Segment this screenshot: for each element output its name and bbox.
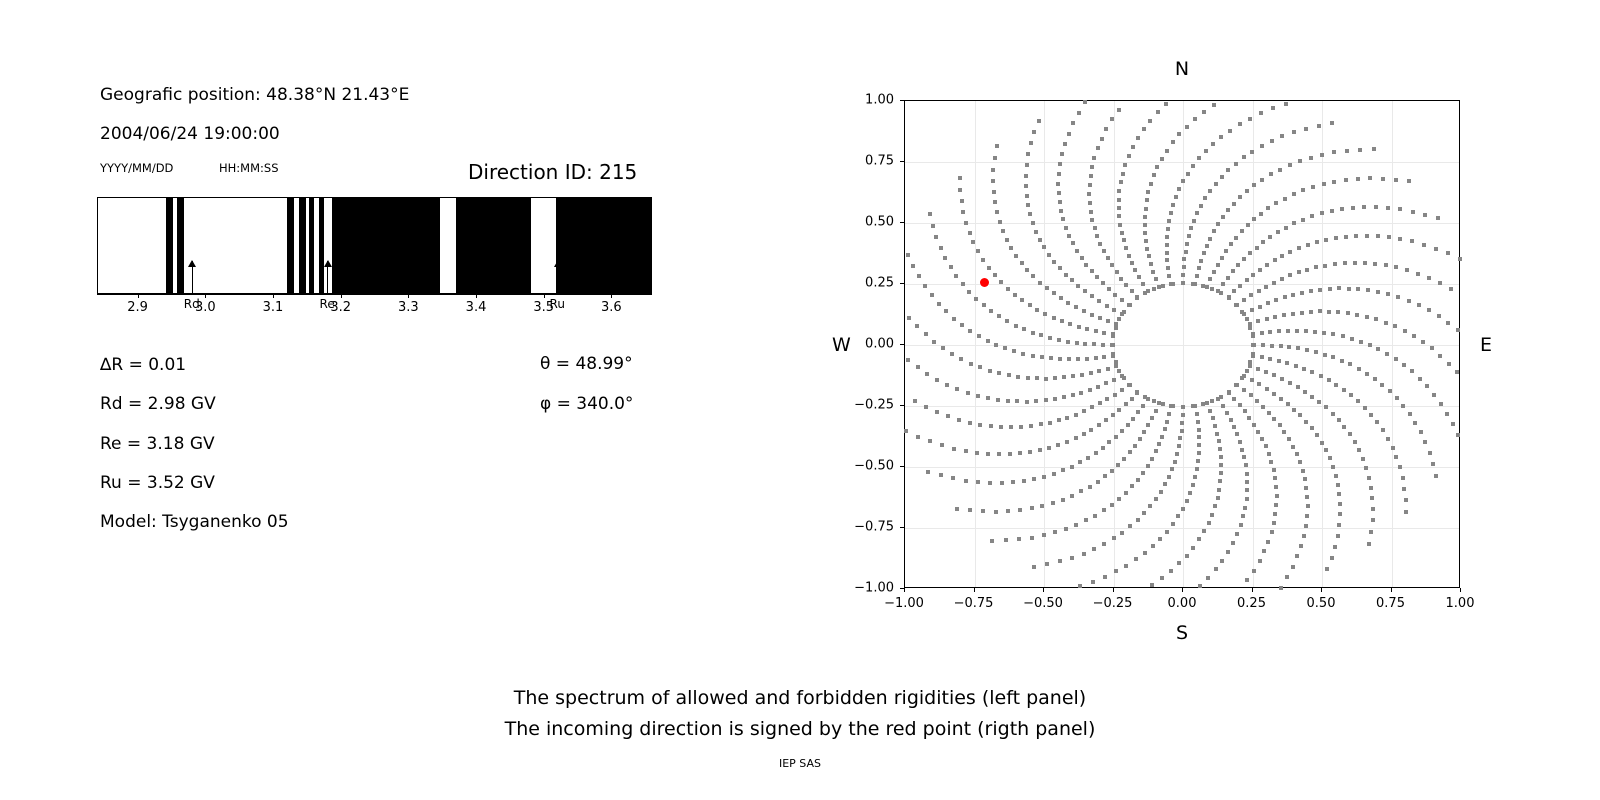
asymptotic-direction-dot (1156, 110, 1160, 114)
arrow-up-icon (554, 260, 562, 267)
asymptotic-direction-dot (1417, 303, 1421, 307)
asymptotic-direction-dot (1337, 286, 1341, 290)
asymptotic-direction-dot (1351, 206, 1355, 210)
asymptotic-direction-dot (1210, 287, 1214, 291)
asymptotic-direction-dot (1214, 567, 1218, 571)
asymptotic-direction-dot (1181, 281, 1185, 285)
asymptotic-direction-dot (1089, 428, 1093, 432)
asymptotic-direction-dot (1215, 432, 1219, 436)
asymptotic-direction-dot (1135, 390, 1139, 394)
asymptotic-direction-dot (1347, 287, 1351, 291)
asymptotic-direction-dot (1160, 435, 1164, 439)
asymptotic-direction-dot (1166, 266, 1170, 270)
asymptotic-direction-dot (999, 280, 1003, 284)
x-axis-tick (1460, 588, 1461, 592)
forbidden-band (456, 198, 531, 293)
asymptotic-direction-dot (1338, 512, 1342, 516)
gridline-vertical (1322, 101, 1323, 587)
asymptotic-direction-dot (997, 371, 1001, 375)
asymptotic-direction-dot (931, 224, 935, 228)
asymptotic-direction-dot (1252, 569, 1256, 573)
asymptotic-direction-dot (1410, 239, 1414, 243)
asymptotic-direction-dot (1260, 144, 1264, 148)
asymptotic-direction-dot (1260, 437, 1264, 441)
asymptotic-direction-dot (1219, 463, 1223, 467)
asymptotic-direction-dot (1260, 178, 1264, 182)
asymptotic-direction-dot (1369, 486, 1373, 490)
asymptotic-direction-dot (1278, 423, 1282, 427)
asymptotic-direction-dot (1058, 357, 1062, 361)
asymptotic-direction-dot (1145, 198, 1149, 202)
asymptotic-direction-dot (1423, 440, 1427, 444)
asymptotic-direction-dot (1149, 262, 1153, 266)
asymptotic-direction-dot (1113, 293, 1117, 297)
asymptotic-direction-dot (1240, 448, 1244, 452)
asymptotic-direction-dot (1427, 308, 1431, 312)
asymptotic-direction-dot (1143, 215, 1147, 219)
asymptotic-direction-dot (1048, 421, 1052, 425)
asymptotic-direction-dot (1148, 504, 1152, 508)
asymptotic-direction-dot (1075, 249, 1079, 253)
asymptotic-direction-dot (1191, 282, 1195, 286)
asymptotic-direction-dot (1014, 254, 1018, 258)
asymptotic-direction-dot (1058, 200, 1062, 204)
marker-label: Re (320, 297, 335, 311)
asymptotic-direction-dot (1341, 334, 1345, 338)
asymptotic-direction-dot (1330, 209, 1334, 213)
asymptotic-direction-dot (1208, 409, 1212, 413)
asymptotic-direction-dot (1314, 265, 1318, 269)
asymptotic-direction-dot (1298, 413, 1302, 417)
asymptotic-direction-dot (958, 176, 962, 180)
asymptotic-direction-dot (1006, 287, 1010, 291)
asymptotic-direction-dot (1358, 148, 1362, 152)
asymptotic-direction-dot (1166, 227, 1170, 231)
asymptotic-direction-dot (1001, 229, 1005, 233)
asymptotic-direction-dot (1015, 399, 1019, 403)
asymptotic-direction-dot (1267, 452, 1271, 456)
asymptotic-direction-dot (1126, 423, 1130, 427)
asymptotic-direction-dot (1219, 471, 1223, 475)
asymptotic-direction-dot (1057, 191, 1061, 195)
asymptotic-direction-dot (1057, 338, 1061, 342)
param-ru: Ru = 3.52 GV (100, 473, 215, 493)
asymptotic-direction-dot (1386, 292, 1390, 296)
asymptotic-direction-dot (1376, 347, 1380, 351)
y-axis-tick-label: −0.50 (838, 459, 894, 474)
asymptotic-direction-dot (1291, 312, 1295, 316)
asymptotic-direction-dot (923, 284, 927, 288)
param-model: Model: Tsyganenko 05 (100, 512, 289, 532)
x-axis-tick (904, 588, 905, 592)
asymptotic-direction-dot (1024, 184, 1028, 188)
asymptotic-direction-dot (1398, 465, 1402, 469)
asymptotic-direction-dot (1221, 282, 1225, 286)
asymptotic-direction-dot (1024, 174, 1028, 178)
x-axis-tick-label: −0.75 (954, 596, 994, 611)
asymptotic-direction-dot (1255, 246, 1259, 250)
spectrum-tick (611, 294, 612, 298)
asymptotic-direction-dot (1248, 251, 1252, 255)
asymptotic-direction-dot (954, 274, 958, 278)
asymptotic-direction-dot (1145, 247, 1149, 251)
asymptotic-direction-dot (1197, 428, 1201, 432)
y-axis-tick (900, 344, 904, 345)
asymptotic-direction-dot (1393, 324, 1397, 328)
asymptotic-direction-dot (1154, 277, 1158, 281)
asymptotic-direction-dot (1295, 452, 1299, 456)
asymptotic-direction-dot (1045, 286, 1049, 290)
asymptotic-direction-dot (976, 394, 980, 398)
asymptotic-direction-dot (1366, 288, 1370, 292)
asymptotic-direction-dot (996, 398, 1000, 402)
spectrum-tick-label: 2.9 (127, 300, 148, 315)
asymptotic-direction-dot (1434, 247, 1438, 251)
asymptotic-direction-dot (1195, 412, 1199, 416)
asymptotic-direction-dot (1407, 299, 1411, 303)
asymptotic-direction-dot (1242, 155, 1246, 159)
asymptotic-direction-dot (1128, 303, 1132, 307)
asymptotic-direction-dot (1284, 226, 1288, 230)
asymptotic-direction-dot (1124, 491, 1128, 495)
asymptotic-direction-dot (1208, 237, 1212, 241)
asymptotic-direction-dot (1130, 397, 1134, 401)
asymptotic-direction-dot (1083, 289, 1087, 293)
asymptotic-direction-dot (1291, 565, 1295, 569)
asymptotic-direction-dot (995, 210, 999, 214)
y-axis-tick (900, 527, 904, 528)
asymptotic-direction-dot (1090, 218, 1094, 222)
asymptotic-direction-dot (1264, 285, 1268, 289)
asymptotic-direction-dot (966, 391, 970, 395)
asymptotic-direction-dot (1322, 182, 1326, 186)
asymptotic-direction-dot (1273, 512, 1277, 516)
asymptotic-direction-dot (1295, 554, 1299, 558)
asymptotic-direction-dot (1401, 404, 1405, 408)
asymptotic-direction-dot (1063, 142, 1067, 146)
asymptotic-direction-dot (1252, 217, 1256, 221)
asymptotic-direction-dot (1225, 411, 1229, 415)
asymptotic-direction-dot (1346, 311, 1350, 315)
asymptotic-direction-dot (1292, 408, 1296, 412)
y-axis-tick-label: 0.75 (838, 154, 894, 169)
asymptotic-direction-dot (1051, 501, 1055, 505)
asymptotic-direction-dot (1117, 108, 1121, 112)
marker-label: Ru (550, 297, 565, 311)
asymptotic-direction-dot (1071, 241, 1075, 245)
asymptotic-direction-dot (1251, 273, 1255, 277)
asymptotic-direction-dot (1231, 541, 1235, 545)
asymptotic-direction-dot (1098, 316, 1102, 320)
asymptotic-direction-dot (1086, 456, 1090, 460)
asymptotic-direction-dot (1302, 367, 1306, 371)
x-axis-tick-label: 1.00 (1446, 596, 1475, 611)
asymptotic-direction-dot (1251, 334, 1255, 338)
asymptotic-direction-dot (993, 273, 997, 277)
asymptotic-direction-dot (1398, 207, 1402, 211)
asymptotic-direction-dot (1245, 488, 1249, 492)
asymptotic-direction-dot (1261, 240, 1265, 244)
asymptotic-direction-dot (1274, 201, 1278, 205)
asymptotic-direction-dot (1446, 321, 1450, 325)
asymptotic-direction-dot (1219, 395, 1223, 399)
asymptotic-direction-dot (1117, 497, 1121, 501)
asymptotic-direction-dot (989, 309, 993, 313)
asymptotic-direction-dot (1107, 287, 1111, 291)
gridline-horizontal (905, 345, 1459, 346)
asymptotic-direction-dot (951, 476, 955, 480)
asymptotic-direction-dot (1021, 352, 1025, 356)
asymptotic-direction-dot (989, 424, 993, 428)
asymptotic-direction-dot (952, 317, 956, 321)
asymptotic-direction-dot (1195, 211, 1199, 215)
asymptotic-direction-dot (1226, 208, 1230, 212)
asymptotic-direction-dot (1170, 467, 1174, 471)
asymptotic-direction-dot (978, 365, 982, 369)
asymptotic-direction-dot (1066, 301, 1070, 305)
asymptotic-direction-dot (917, 274, 921, 278)
asymptotic-direction-dot (1185, 554, 1189, 558)
asymptotic-direction-dot (1003, 346, 1007, 350)
asymptotic-direction-dot (1456, 433, 1460, 437)
asymptotic-direction-dot (1232, 397, 1236, 401)
asymptotic-direction-dot (1318, 288, 1322, 292)
asymptotic-direction-dot (1031, 274, 1035, 278)
asymptotic-direction-dot (1017, 537, 1021, 541)
asymptotic-direction-dot (1195, 274, 1199, 278)
asymptotic-direction-dot (1064, 273, 1068, 277)
asymptotic-direction-dot (1052, 291, 1056, 295)
asymptotic-direction-dot (1083, 100, 1087, 104)
asymptotic-direction-dot (1432, 393, 1436, 397)
asymptotic-direction-dot (1305, 348, 1309, 352)
asymptotic-direction-dot (1208, 189, 1212, 193)
asymptotic-direction-dot (1163, 427, 1167, 431)
asymptotic-direction-dot (1284, 102, 1288, 106)
asymptotic-direction-dot (1000, 481, 1004, 485)
asymptotic-direction-dot (926, 470, 930, 474)
asymptotic-direction-dot (1193, 475, 1197, 479)
asymptotic-direction-dot (1058, 162, 1062, 166)
asymptotic-direction-dot (1167, 475, 1171, 479)
asymptotic-direction-dot (1158, 537, 1162, 541)
asymptotic-direction-dot (1080, 373, 1084, 377)
asymptotic-direction-dot (1391, 446, 1395, 450)
asymptotic-direction-dot (1070, 494, 1074, 498)
asymptotic-direction-dot (1087, 192, 1091, 196)
asymptotic-direction-dot (1114, 569, 1118, 573)
asymptotic-direction-dot (904, 429, 908, 433)
asymptotic-direction-dot (1357, 367, 1361, 371)
asymptotic-direction-dot (906, 358, 910, 362)
asymptotic-direction-dot (1074, 436, 1078, 440)
asymptotic-direction-dot (1256, 430, 1260, 434)
y-axis-tick-label: −0.75 (838, 520, 894, 535)
asymptotic-direction-dot (1191, 483, 1195, 487)
asymptotic-direction-dot (911, 264, 915, 268)
asymptotic-direction-dot (964, 221, 968, 225)
asymptotic-direction-dot (1098, 242, 1102, 246)
asymptotic-direction-dot (1296, 346, 1300, 350)
asymptotic-direction-dot (1380, 383, 1384, 387)
asymptotic-direction-dot (1005, 319, 1009, 323)
asymptotic-direction-dot (1151, 544, 1155, 548)
asymptotic-direction-dot (1040, 504, 1044, 508)
asymptotic-direction-dot (1428, 451, 1432, 455)
asymptotic-direction-dot (994, 510, 998, 514)
asymptotic-direction-dot (1198, 584, 1202, 588)
asymptotic-direction-dot (1234, 162, 1238, 166)
asymptotic-direction-dot (1143, 291, 1147, 295)
asymptotic-direction-dot (1130, 261, 1134, 265)
asymptotic-direction-dot (1047, 446, 1051, 450)
asymptotic-direction-dot (1212, 103, 1216, 107)
asymptotic-direction-dot (1155, 165, 1159, 169)
asymptotic-direction-dot (1273, 315, 1277, 319)
asymptotic-direction-dot (981, 509, 985, 513)
asymptotic-direction-dot (1282, 430, 1286, 434)
asymptotic-direction-dot (1304, 486, 1308, 490)
asymptotic-direction-dot (1147, 254, 1151, 258)
asymptotic-direction-dot (1269, 460, 1273, 464)
asymptotic-direction-dot (1305, 495, 1309, 499)
asymptotic-direction-dot (1210, 513, 1214, 517)
asymptotic-direction-dot (935, 378, 939, 382)
asymptotic-direction-dot (1336, 534, 1340, 538)
asymptotic-direction-dot (1337, 523, 1341, 527)
asymptotic-direction-dot (1165, 530, 1169, 534)
spectrum-tick-label: 3.1 (263, 300, 284, 315)
asymptotic-direction-dot (1216, 496, 1220, 500)
asymptotic-direction-dot (1260, 331, 1264, 335)
asymptotic-direction-dot (1298, 159, 1302, 163)
asymptotic-direction-dot (1438, 354, 1442, 358)
asymptotic-direction-dot (1089, 371, 1093, 375)
asymptotic-direction-dot (1095, 234, 1099, 238)
asymptotic-direction-dot (916, 435, 920, 439)
asymptotic-direction-dot (1117, 198, 1121, 202)
asymptotic-direction-dot (1327, 378, 1331, 382)
asymptotic-direction-dot (1124, 564, 1128, 568)
asymptotic-direction-dot (1247, 416, 1251, 420)
asymptotic-direction-dot (1332, 180, 1336, 184)
asymptotic-direction-dot (1114, 435, 1118, 439)
asymptotic-direction-dot (1042, 475, 1046, 479)
asymptotic-direction-dot (928, 212, 932, 216)
asymptotic-direction-dot (1456, 328, 1460, 332)
asymptotic-direction-dot (1301, 469, 1305, 473)
asymptotic-direction-dot (1374, 317, 1378, 321)
gridline-horizontal (905, 223, 1459, 224)
asymptotic-direction-dot (1232, 202, 1236, 206)
asymptotic-direction-dot (1102, 542, 1106, 546)
asymptotic-direction-dot (1163, 482, 1167, 486)
asymptotic-direction-dot (1213, 424, 1217, 428)
asymptotic-direction-dot (1304, 127, 1308, 131)
asymptotic-direction-dot (1026, 203, 1030, 207)
asymptotic-direction-dot (1394, 178, 1398, 182)
asymptotic-direction-dot (1085, 327, 1089, 331)
asymptotic-direction-dot (1249, 393, 1253, 397)
asymptotic-direction-dot (1270, 530, 1274, 534)
y-axis-tick-label: −1.00 (838, 581, 894, 596)
asymptotic-direction-dot (1088, 388, 1092, 392)
asymptotic-direction-dot (1202, 110, 1206, 114)
asymptotic-direction-dot (1165, 243, 1169, 247)
asymptotic-direction-dot (1137, 275, 1141, 279)
asymptotic-direction-dot (1134, 557, 1138, 561)
asymptotic-direction-dot (1117, 369, 1121, 373)
asymptotic-direction-dot (1294, 364, 1298, 368)
asymptotic-direction-dot (1266, 206, 1270, 210)
right-panel: N S W E −1.00−0.75−0.50−0.250.000.250.50… (700, 0, 1600, 800)
asymptotic-direction-dot (1350, 337, 1354, 341)
asymptotic-direction-dot (1191, 404, 1195, 408)
asymptotic-direction-dot (1300, 311, 1304, 315)
asymptotic-direction-dot (1104, 381, 1108, 385)
asymptotic-direction-dot (1337, 492, 1341, 496)
asymptotic-direction-dot (1150, 583, 1154, 587)
asymptotic-direction-dot (1090, 165, 1094, 169)
asymptotic-direction-dot (1032, 130, 1036, 134)
asymptotic-direction-dot (977, 334, 981, 338)
asymptotic-direction-dot (1102, 355, 1106, 359)
asymptotic-direction-dot (1276, 230, 1280, 234)
asymptotic-direction-dot (1304, 329, 1308, 333)
asymptotic-direction-dot (1361, 457, 1365, 461)
asymptotic-direction-dot (1094, 451, 1098, 455)
asymptotic-direction-dot (928, 439, 932, 443)
asymptotic-direction-dot (1374, 205, 1378, 209)
asymptotic-direction-dot (1285, 361, 1289, 365)
asymptotic-direction-dot (1077, 111, 1081, 115)
asymptotic-direction-dot (1413, 421, 1417, 425)
asymptotic-direction-dot (1052, 316, 1056, 320)
asymptotic-direction-dot (1176, 514, 1180, 518)
asymptotic-direction-dot (1197, 156, 1201, 160)
param-phi: φ = 340.0° (540, 394, 633, 414)
asymptotic-direction-dot (1216, 222, 1220, 226)
asymptotic-direction-dot (1402, 363, 1406, 367)
asymptotic-direction-dot (1368, 176, 1372, 180)
asymptotic-direction-dot (1146, 423, 1150, 427)
asymptotic-direction-dot (1110, 469, 1114, 473)
asymptotic-direction-dot (1202, 251, 1206, 255)
asymptotic-direction-dot (1394, 357, 1398, 361)
asymptotic-direction-dot (1181, 507, 1185, 511)
asymptotic-direction-dot (1097, 423, 1101, 427)
asymptotic-direction-dot (1060, 319, 1064, 323)
asymptotic-direction-dot (1094, 356, 1098, 360)
asymptotic-direction-dot (1226, 550, 1230, 554)
asymptotic-direction-dot (1175, 452, 1179, 456)
asymptotic-direction-dot (1199, 259, 1203, 263)
asymptotic-direction-dot (1192, 219, 1196, 223)
asymptotic-direction-dot (1197, 443, 1201, 447)
asymptotic-direction-dot (1323, 353, 1327, 357)
asymptotic-direction-dot (1242, 455, 1246, 459)
asymptotic-direction-dot (1306, 504, 1310, 508)
asymptotic-direction-dot (1022, 479, 1026, 483)
asymptotic-direction-dot (1404, 510, 1408, 514)
asymptotic-direction-dot (1283, 197, 1287, 201)
asymptotic-direction-dot (1120, 429, 1124, 433)
asymptotic-direction-dot (1096, 480, 1100, 484)
asymptotic-direction-dot (1111, 413, 1115, 417)
asymptotic-direction-dot (1160, 576, 1164, 580)
asymptotic-direction-dot (932, 340, 936, 344)
asymptotic-direction-dot (1376, 290, 1380, 294)
